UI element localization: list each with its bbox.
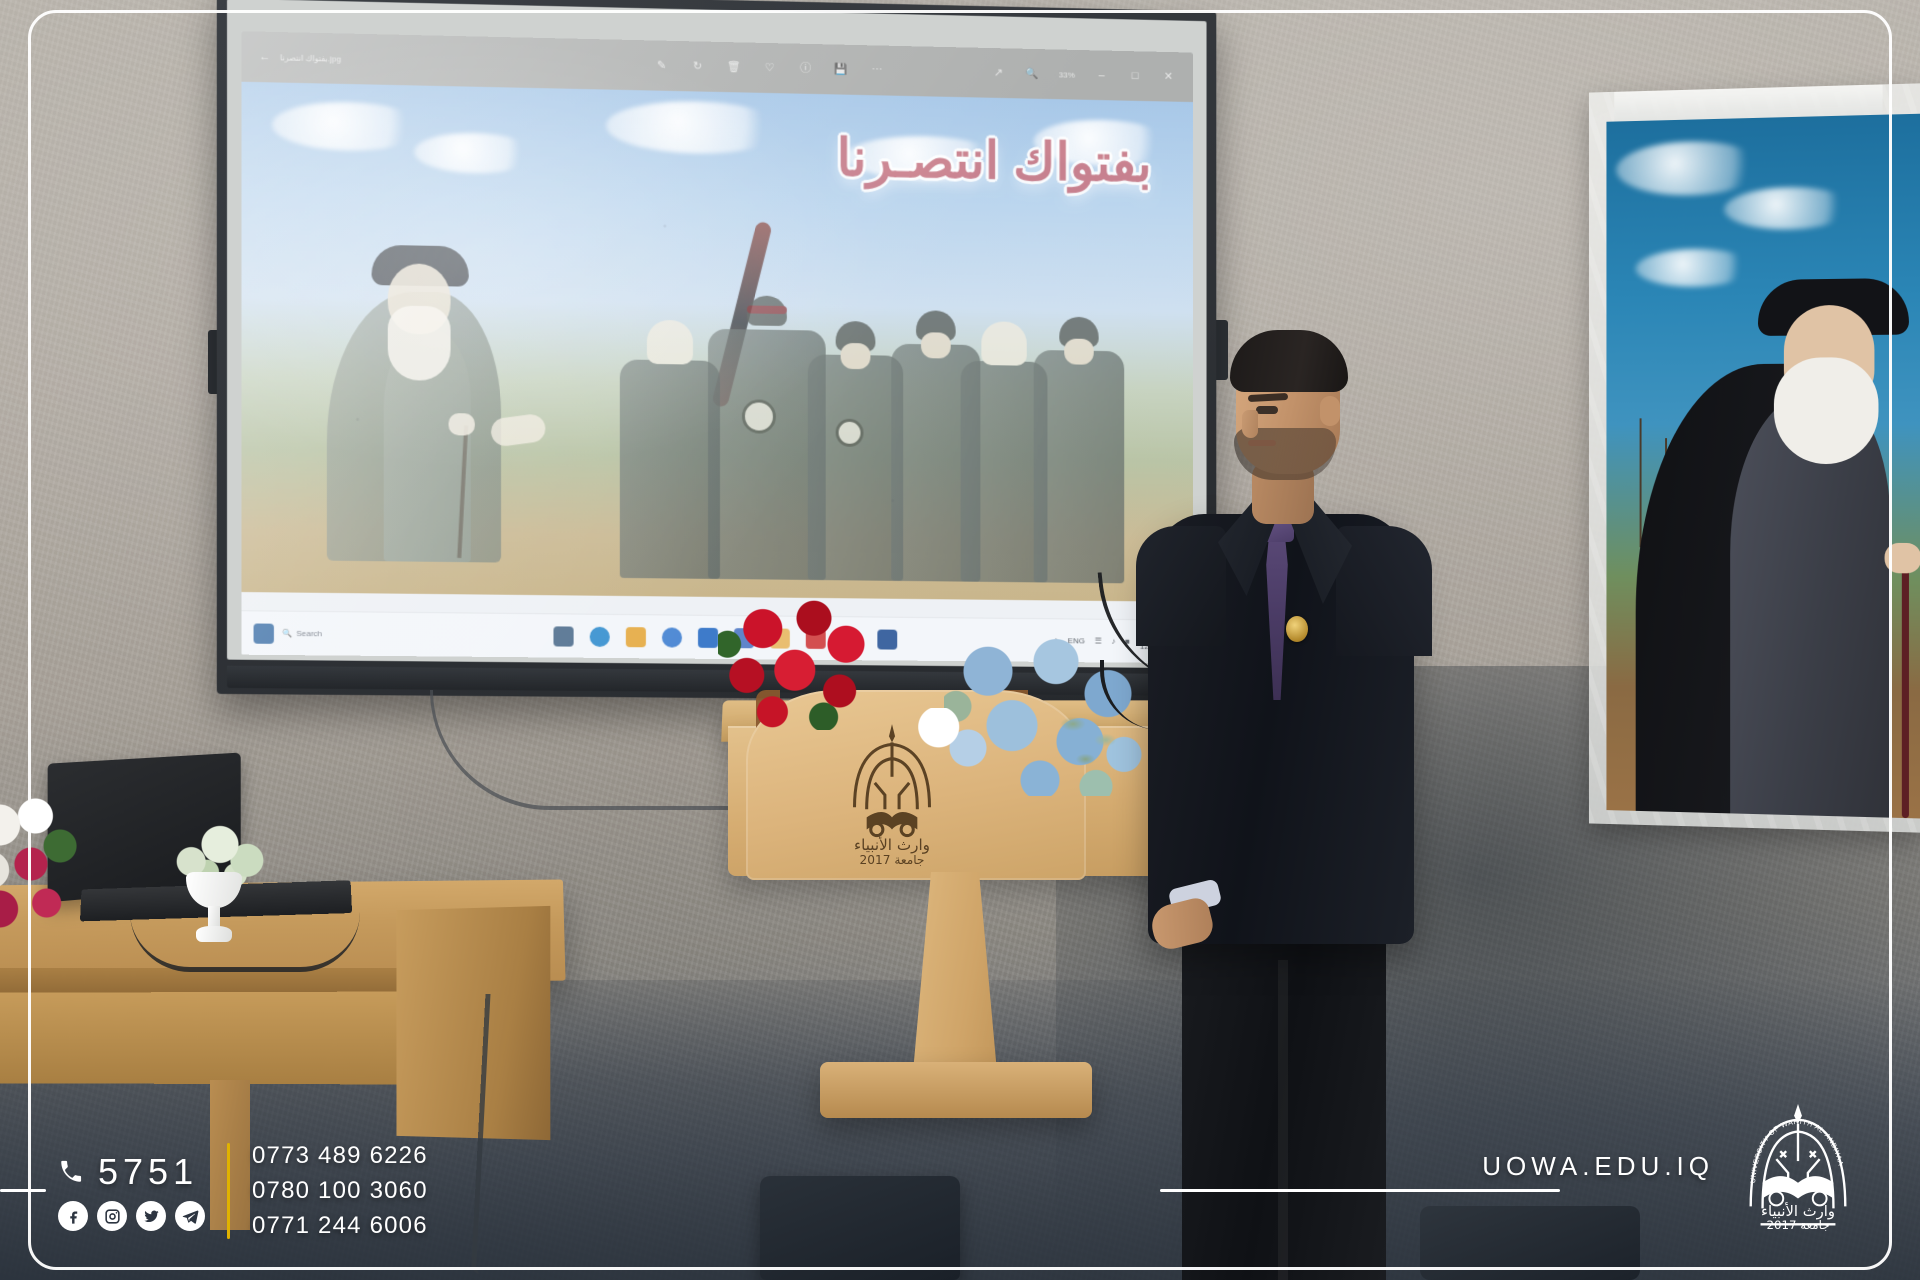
vase-stem bbox=[208, 906, 220, 928]
soldier-figure bbox=[808, 354, 903, 581]
laptop-power-cord bbox=[130, 912, 360, 972]
more-options-icon[interactable]: ⋯ bbox=[870, 63, 884, 77]
slide-cleric-figure bbox=[321, 228, 513, 563]
back-arrow-icon[interactable]: ← bbox=[258, 50, 272, 64]
speaker-nose bbox=[1242, 410, 1258, 438]
info-icon[interactable]: ⓘ bbox=[799, 62, 813, 76]
soldier-face bbox=[921, 332, 951, 358]
fullscreen-icon[interactable]: ↗ bbox=[992, 66, 1006, 80]
rotate-icon[interactable]: ↻ bbox=[691, 59, 705, 73]
white-vase bbox=[186, 872, 242, 946]
desk-bouquet bbox=[0, 786, 78, 936]
cleric-beard bbox=[388, 305, 451, 380]
soldier-keffiyeh bbox=[647, 320, 693, 365]
speaker-lapel-pin bbox=[1286, 616, 1308, 642]
speaker-trouser-seam bbox=[1278, 960, 1288, 1280]
minimize-icon[interactable]: – bbox=[1095, 68, 1109, 82]
soldier-figure bbox=[1034, 350, 1125, 583]
podium-base bbox=[820, 1062, 1092, 1118]
start-icon[interactable] bbox=[254, 623, 274, 643]
poster-cleric-cane bbox=[1902, 565, 1909, 818]
mail-icon[interactable] bbox=[698, 627, 718, 647]
side-desk-leg bbox=[210, 1080, 250, 1230]
podium-red-flowers bbox=[718, 600, 878, 730]
speaker-eye bbox=[1256, 406, 1278, 414]
wall-poster bbox=[1589, 83, 1920, 832]
photos-app-titlebar-left: ← بفتواك انتصرنا.jpg bbox=[241, 49, 545, 70]
unit-emblem-icon bbox=[742, 399, 776, 433]
svg-text:وارث الأنبياء: وارث الأنبياء bbox=[854, 835, 930, 854]
unit-emblem-icon bbox=[836, 419, 864, 447]
vase-cup bbox=[186, 872, 242, 908]
slide-soldiers-group bbox=[558, 216, 1154, 584]
photos-toolbar-actions: ✎ ↻ 🗑 ♡ ⓘ 💾 ⋯ bbox=[545, 56, 991, 80]
chrome-icon[interactable] bbox=[662, 627, 682, 647]
floor-bag bbox=[760, 1176, 960, 1280]
task-view-icon[interactable] bbox=[554, 626, 574, 646]
taskbar-left: 🔍 Search bbox=[241, 623, 394, 645]
speaker-shoulder-left bbox=[1136, 526, 1226, 646]
photos-filename-label: بفتواك انتصرنا.jpg bbox=[280, 53, 341, 63]
favorite-icon[interactable]: ♡ bbox=[763, 61, 777, 75]
soldier-face bbox=[841, 343, 871, 369]
screenshot-canvas: PromeThean ← بفتواك انتصرنا.jpg ✎ ↻ 🗑 ♡ … bbox=[0, 0, 1920, 1280]
photos-window-controls: ↗ 🔍 33% – □ ✕ bbox=[992, 66, 1193, 84]
poster-cleric-hand bbox=[1885, 543, 1920, 574]
delete-icon[interactable]: 🗑 bbox=[727, 60, 741, 74]
soldier-face bbox=[1064, 339, 1094, 365]
svg-text:جامعة 2017: جامعة 2017 bbox=[860, 853, 925, 867]
projected-desktop: ← بفتواك انتصرنا.jpg ✎ ↻ 🗑 ♡ ⓘ 💾 ⋯ ↗ 🔍 3… bbox=[241, 31, 1193, 663]
poster-cleric-figure bbox=[1636, 251, 1920, 818]
search-placeholder-label: Search bbox=[296, 629, 322, 638]
poster-cleric-beard bbox=[1774, 357, 1879, 464]
podium-white-flower bbox=[918, 708, 964, 750]
speaker-person bbox=[1130, 300, 1450, 1280]
word-icon[interactable] bbox=[878, 629, 898, 649]
floor-cable bbox=[471, 994, 725, 1280]
cloud-shape bbox=[414, 132, 535, 175]
soldier-figure bbox=[620, 359, 720, 579]
save-icon[interactable]: 💾 bbox=[834, 62, 848, 76]
file-explorer-icon[interactable] bbox=[626, 627, 646, 647]
cleric-hand bbox=[449, 413, 475, 435]
search-zoom-icon[interactable]: 🔍 bbox=[1025, 67, 1039, 81]
soldier-headband bbox=[747, 305, 787, 314]
soldier-keffiyeh bbox=[981, 321, 1026, 365]
poster-artwork bbox=[1606, 114, 1920, 819]
cloud-shape bbox=[272, 101, 424, 153]
slide-image: بفتواك انتصـرنا bbox=[241, 82, 1193, 602]
speaker-ear bbox=[1320, 396, 1340, 426]
cloud-shape bbox=[1616, 140, 1764, 197]
maximize-icon[interactable]: □ bbox=[1128, 69, 1142, 83]
edit-image-icon[interactable]: ✎ bbox=[655, 59, 669, 73]
zoom-level-label: 33% bbox=[1059, 70, 1075, 79]
search-icon: 🔍 bbox=[282, 629, 292, 638]
edge-browser-icon[interactable] bbox=[590, 626, 610, 646]
cloud-shape bbox=[606, 100, 786, 156]
cloud-shape bbox=[1724, 186, 1854, 231]
floor-bag-secondary bbox=[1420, 1206, 1640, 1280]
slide-headline: بفتواك انتصـرنا bbox=[837, 128, 1152, 194]
vase-foot bbox=[196, 926, 232, 942]
speaker-mouth bbox=[1248, 440, 1276, 446]
taskbar-search[interactable]: 🔍 Search bbox=[282, 629, 322, 638]
close-icon[interactable]: ✕ bbox=[1161, 70, 1175, 84]
whiteboard-brand-label: PromeThean bbox=[243, 0, 308, 2]
speaker-hair bbox=[1230, 330, 1348, 392]
